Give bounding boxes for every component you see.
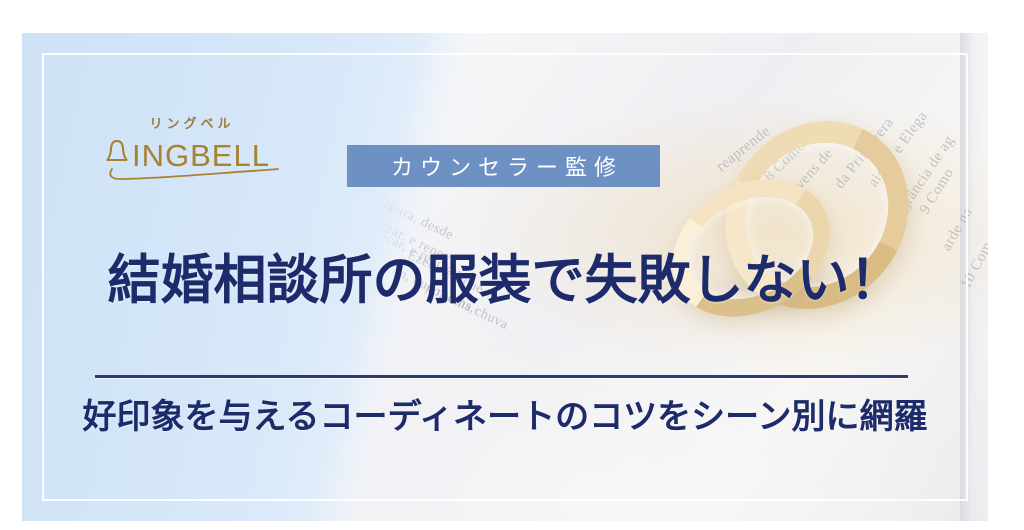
counselor-supervised-badge: カウンセラー監修: [347, 145, 660, 187]
divider-rule: [95, 375, 908, 378]
badge-label: カウンセラー監修: [384, 150, 623, 182]
article-hero-banner: reaprende 8 Como vens de da Primavera ai…: [0, 0, 1024, 530]
swoosh-underline-icon: [104, 165, 280, 181]
bell-icon: [106, 140, 128, 166]
subtitle: 好印象を与えるコーディネートのコツをシーン別に網羅: [22, 397, 988, 438]
logo-kana-label: リングベル: [100, 117, 280, 130]
headline: 結婚相談所の服装で失敗しない！: [22, 251, 988, 310]
ringbell-logo: リングベル INGBELL: [100, 117, 280, 176]
hero-image: reaprende 8 Como vens de da Primavera ai…: [22, 33, 988, 521]
logo-wordmark: INGBELL: [100, 136, 280, 176]
